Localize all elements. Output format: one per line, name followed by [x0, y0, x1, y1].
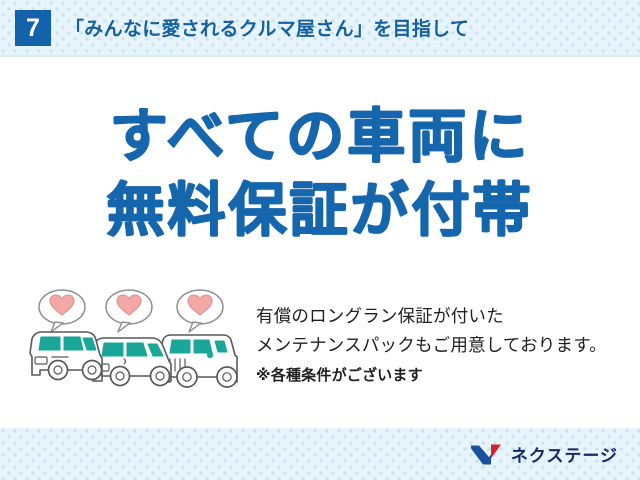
- nextage-n-logo-icon: [469, 442, 503, 466]
- body-copy: 有償のロングラン保証が付いた メンテナンスパックもご用意しております。 ※各種条…: [256, 303, 636, 389]
- car-minivan: [91, 338, 171, 386]
- headline-line-2: 無料保証が付帯: [0, 173, 640, 247]
- brand-name: ネクステージ: [511, 442, 618, 467]
- footer-band: ネクステージ: [0, 428, 640, 480]
- header-content: 7 「みんなに愛されるクルマ屋さん」を目指して: [0, 0, 640, 55]
- header-band: 7 「みんなに愛されるクルマ屋さん」を目指して: [0, 0, 640, 55]
- brand-logo: ネクステージ: [469, 442, 618, 467]
- body-copy-note: ※各種条件がございます: [256, 361, 636, 389]
- cars-illustration: [24, 285, 244, 403]
- speech-bubble-2: [106, 290, 152, 332]
- headline-block: すべての車両に 無料保証が付帯: [0, 99, 640, 247]
- content-row: 有償のロングラン保証が付いた メンテナンスパックもご用意しております。 ※各種条…: [0, 285, 640, 415]
- section-number-badge: 7: [15, 10, 51, 46]
- header-tagline: 「みんなに愛されるクルマ屋さん」を目指して: [65, 14, 469, 41]
- speech-bubble-1: [39, 290, 85, 332]
- main-stage: すべての車両に 無料保証が付帯: [0, 57, 640, 428]
- body-copy-line-1: 有償のロングラン保証が付いた: [256, 303, 636, 332]
- advertisement-page: 7 「みんなに愛されるクルマ屋さん」を目指して すべての車両に 無料保証が付帯: [0, 0, 640, 480]
- cars-illustration-svg: [24, 285, 244, 403]
- car-kei-wagon: [30, 332, 102, 380]
- headline-line-1: すべての車両に: [0, 99, 640, 173]
- body-copy-line-2: メンテナンスパックもご用意しております。: [256, 332, 636, 361]
- speech-bubble-3: [177, 290, 223, 332]
